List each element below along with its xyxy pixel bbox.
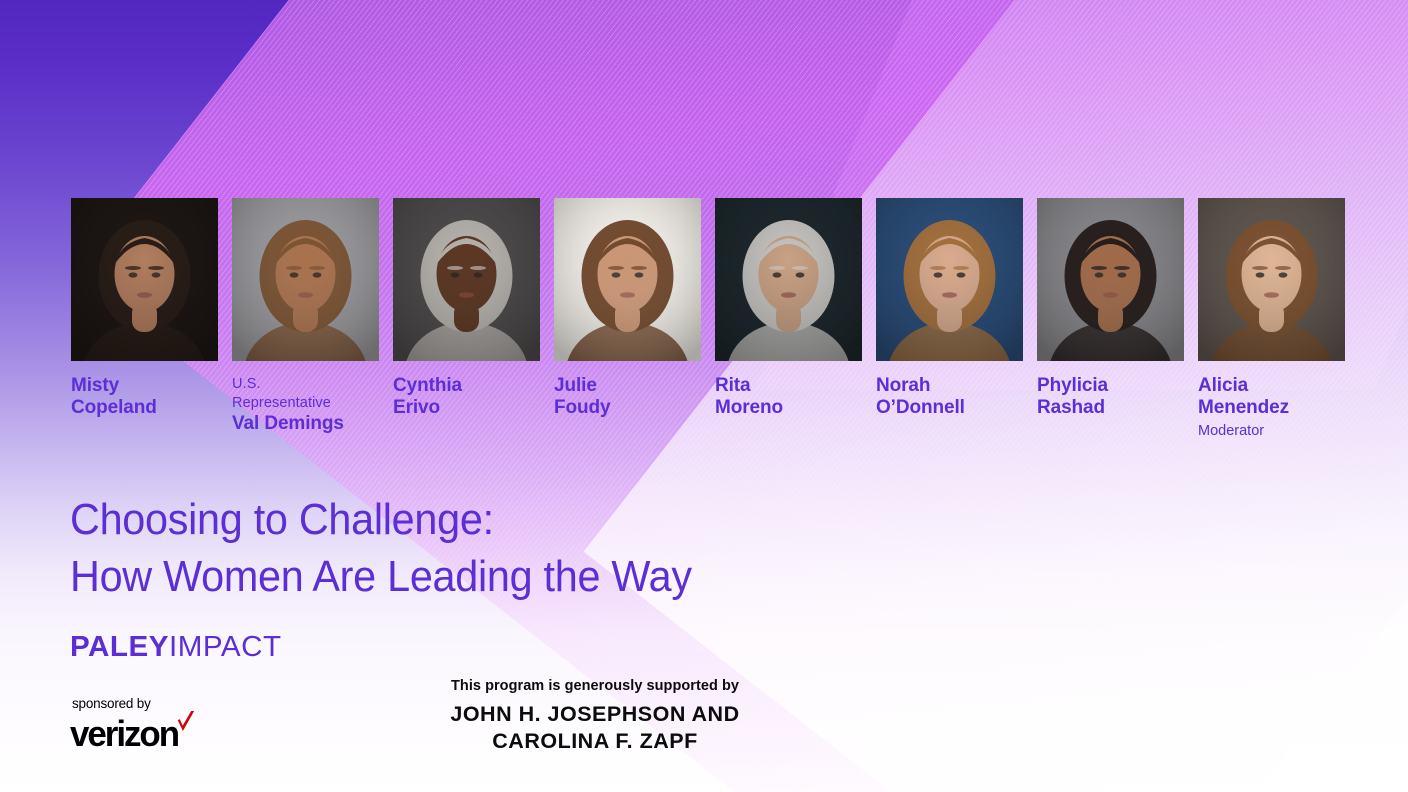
panelist-fullname-4: Julie Foudy bbox=[554, 375, 701, 419]
panelist-fullname-1: Misty Copeland bbox=[71, 375, 218, 419]
sponsored-by-label: sponsored by bbox=[72, 697, 181, 711]
verizon-wordmark: verizon bbox=[70, 716, 178, 752]
support-lead-text: This program is generously supported by bbox=[305, 678, 885, 695]
panelist-photo-4 bbox=[554, 198, 701, 361]
verizon-wordmark-text: verizon bbox=[70, 713, 178, 754]
support-credit: This program is generously supported by … bbox=[305, 678, 885, 754]
page-title: Choosing to Challenge: How Women Are Lea… bbox=[70, 491, 692, 605]
portrait-julie-foudy bbox=[554, 198, 701, 361]
panelist-fullname-7: Phylicia Rashad bbox=[1037, 375, 1184, 419]
portrait-alicia-menendez bbox=[1198, 198, 1345, 361]
panelist-photo-8 bbox=[1198, 198, 1345, 361]
panelist-pretitle-2: U.S. Representative bbox=[232, 375, 379, 413]
panelist-photo-7 bbox=[1037, 198, 1184, 361]
support-donor-names: JOHN H. JOSEPHSON AND CAROLINA F. ZAPF bbox=[305, 701, 885, 753]
portrait-misty-copeland bbox=[71, 198, 218, 361]
panelist-name-2: U.S. RepresentativeVal Demings bbox=[232, 375, 379, 441]
panelist-fullname-3: Cynthia Erivo bbox=[393, 375, 540, 419]
logo-paley-text: PALEY bbox=[70, 631, 169, 663]
panelist-name-7: Phylicia Rashad bbox=[1037, 375, 1184, 441]
panelist-fullname-5: Rita Moreno bbox=[715, 375, 862, 419]
portrait-cynthia-erivo bbox=[393, 198, 540, 361]
portrait-rita-moreno bbox=[715, 198, 862, 361]
panelist-name-1: Misty Copeland bbox=[71, 375, 218, 441]
paley-impact-logo: PALEYIMPACT bbox=[70, 633, 282, 662]
verizon-checkmark-icon bbox=[175, 711, 196, 735]
panelist-name-6: Norah O’Donnell bbox=[876, 375, 1023, 441]
logo-impact-text: IMPACT bbox=[169, 631, 282, 663]
panelist-name-8: Alicia MenendezModerator bbox=[1198, 375, 1345, 441]
panelist-fullname-6: Norah O’Donnell bbox=[876, 375, 1023, 419]
panelist-name-4: Julie Foudy bbox=[554, 375, 701, 441]
panelist-photo-row bbox=[71, 198, 1345, 361]
poster-content: Misty CopelandU.S. RepresentativeVal Dem… bbox=[0, 0, 1408, 792]
portrait-norah-odonnell bbox=[876, 198, 1023, 361]
panelist-name-row: Misty CopelandU.S. RepresentativeVal Dem… bbox=[71, 375, 1345, 441]
panelist-photo-3 bbox=[393, 198, 540, 361]
portrait-val-demings bbox=[232, 198, 379, 361]
panelist-name-5: Rita Moreno bbox=[715, 375, 862, 441]
panelist-role-8: Moderator bbox=[1198, 422, 1345, 440]
portrait-phylicia-rashad bbox=[1037, 198, 1184, 361]
panelist-photo-6 bbox=[876, 198, 1023, 361]
panelist-name-3: Cynthia Erivo bbox=[393, 375, 540, 441]
panelist-fullname-8: Alicia Menendez bbox=[1198, 375, 1345, 419]
panelist-photo-5 bbox=[715, 198, 862, 361]
sponsor-block: sponsored by verizon bbox=[70, 697, 181, 752]
panelist-photo-2 bbox=[232, 198, 379, 361]
panelist-photo-1 bbox=[71, 198, 218, 361]
panelist-fullname-2: Val Demings bbox=[232, 413, 379, 435]
